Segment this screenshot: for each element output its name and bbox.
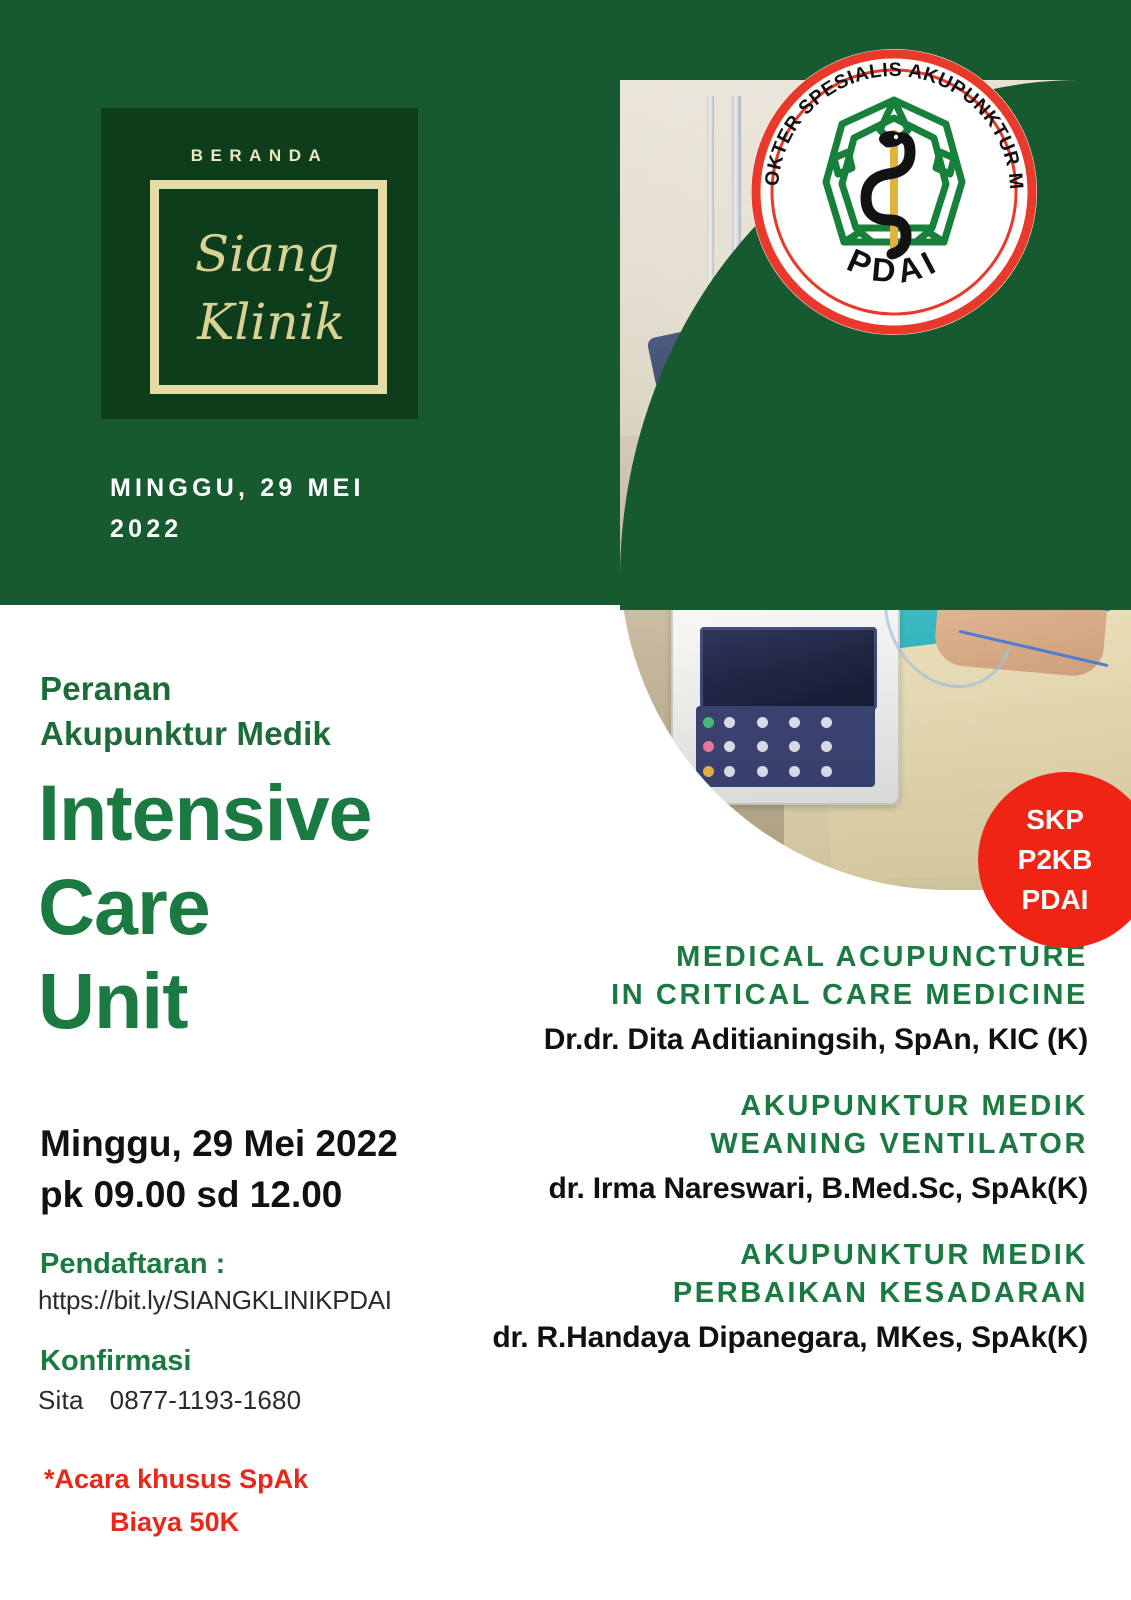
contact-phone[interactable]: 0877-1193-1680	[110, 1385, 302, 1415]
registration-label: Pendaftaran :	[40, 1248, 225, 1281]
registration-link[interactable]: https://bit.ly/SIANGKLINIKPDAI	[38, 1285, 392, 1316]
topic-title-line1: AKUPUNKTUR MEDIK	[420, 1087, 1088, 1125]
eyebrow: Peranan Akupunktur Medik	[40, 666, 470, 756]
fee-note: *Acara khusus SpAk Biaya 50K	[44, 1458, 464, 1544]
skp-line2: P2KB	[1018, 840, 1093, 880]
program-item: AKUPUNKTUR MEDIK PERBAIKAN KESADARAN dr.…	[420, 1236, 1088, 1359]
contact-name: Sita	[38, 1385, 84, 1415]
pdai-seal: PERHIMPUNAN DOKTER SPESIALIS AKUPUNKTUR …	[748, 46, 1040, 338]
skp-line3: PDAI	[1022, 880, 1089, 920]
topic-speaker: dr. R.Handaya Dipanegara, MKes, SpAk(K)	[420, 1317, 1088, 1359]
confirmation-label: Konfirmasi	[40, 1345, 191, 1378]
topic-title-line1: MEDICAL ACUPUNCTURE	[420, 938, 1088, 976]
topic-title-line2: WEANING VENTILATOR	[420, 1125, 1088, 1163]
logo-script-line1: Siang	[195, 225, 339, 283]
program-item: AKUPUNKTUR MEDIK WEANING VENTILATOR dr. …	[420, 1087, 1088, 1210]
logo-gold-frame: Siang Klinik	[150, 180, 387, 394]
logo-script-art: Siang Klinik	[159, 189, 378, 385]
logo-top-word: BERANDA	[101, 146, 418, 166]
seal-needle	[890, 130, 898, 256]
program-list: MEDICAL ACUPUNCTURE IN CRITICAL CARE MED…	[420, 938, 1088, 1363]
fee-note-line2: Biaya 50K	[44, 1501, 464, 1544]
headline-line1: Intensive	[38, 766, 508, 860]
band-date: MINGGU, 29 MEI 2022	[110, 468, 530, 550]
fee-note-line1: *Acara khusus SpAk	[44, 1464, 308, 1494]
topic-speaker: dr. Irma Nareswari, B.Med.Sc, SpAk(K)	[420, 1168, 1088, 1210]
topic-title-line1: AKUPUNKTUR MEDIK	[420, 1236, 1088, 1274]
program-item: MEDICAL ACUPUNCTURE IN CRITICAL CARE MED…	[420, 938, 1088, 1061]
seal-snake-head	[879, 131, 903, 147]
logo-script-line2: Klinik	[196, 293, 345, 351]
topic-title-line2: PERBAIKAN KESADARAN	[420, 1274, 1088, 1312]
eyebrow-line2: Akupunktur Medik	[40, 711, 470, 756]
skp-line1: SKP	[1026, 800, 1084, 840]
eyebrow-line1: Peranan	[40, 666, 470, 711]
poster-canvas: PERHIMPUNAN DOKTER SPESIALIS AKUPUNKTUR …	[0, 0, 1131, 1600]
confirmation-contact: Sita0877-1193-1680	[38, 1385, 301, 1416]
beranda-logo-card: BERANDA Siang Klinik	[101, 108, 418, 419]
topic-title-line2: IN CRITICAL CARE MEDICINE	[420, 976, 1088, 1014]
band-date-line1: MINGGU, 29 MEI	[110, 468, 530, 509]
topic-speaker: Dr.dr. Dita Aditianingsih, SpAn, KIC (K)	[420, 1019, 1088, 1061]
band-date-line2: 2022	[110, 509, 530, 550]
